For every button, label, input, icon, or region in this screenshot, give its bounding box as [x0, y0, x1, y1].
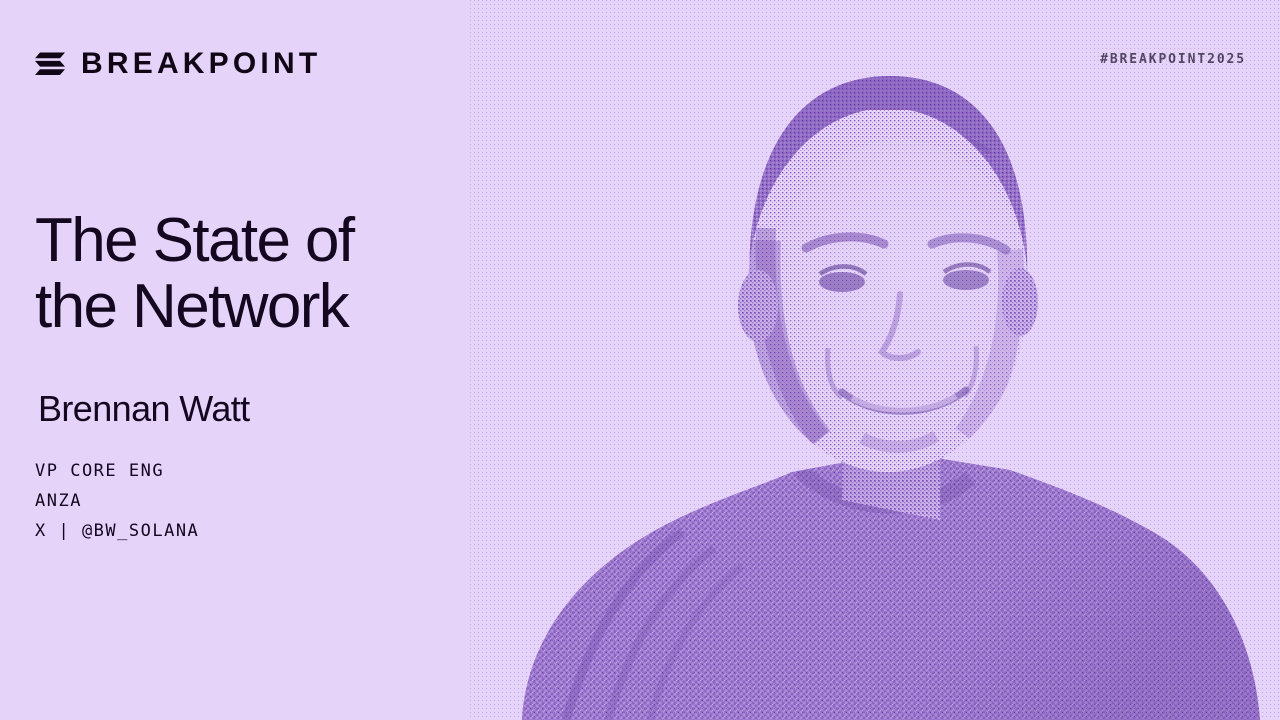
speaker-social-handle[interactable]: X | @BW_SOLANA — [35, 516, 199, 546]
speaker-name: Brennan Watt — [38, 388, 250, 430]
speaker-company: ANZA — [35, 486, 199, 516]
brand-wordmark: BREAKPOINT — [81, 49, 321, 79]
breakpoint-logo[interactable]: BREAKPOINT — [35, 46, 321, 82]
speaker-role: VP CORE ENG — [35, 456, 199, 486]
speaker-details: VP CORE ENG ANZA X | @BW_SOLANA — [35, 456, 199, 546]
presentation-slide: BREAKPOINT #BREAKPOINT2025 The State of … — [0, 0, 1280, 720]
solana-bars-icon — [35, 52, 65, 76]
speaker-portrait — [470, 0, 1280, 720]
portrait-dither-overlay — [470, 0, 1280, 720]
halftone-portrait-image — [470, 0, 1280, 720]
